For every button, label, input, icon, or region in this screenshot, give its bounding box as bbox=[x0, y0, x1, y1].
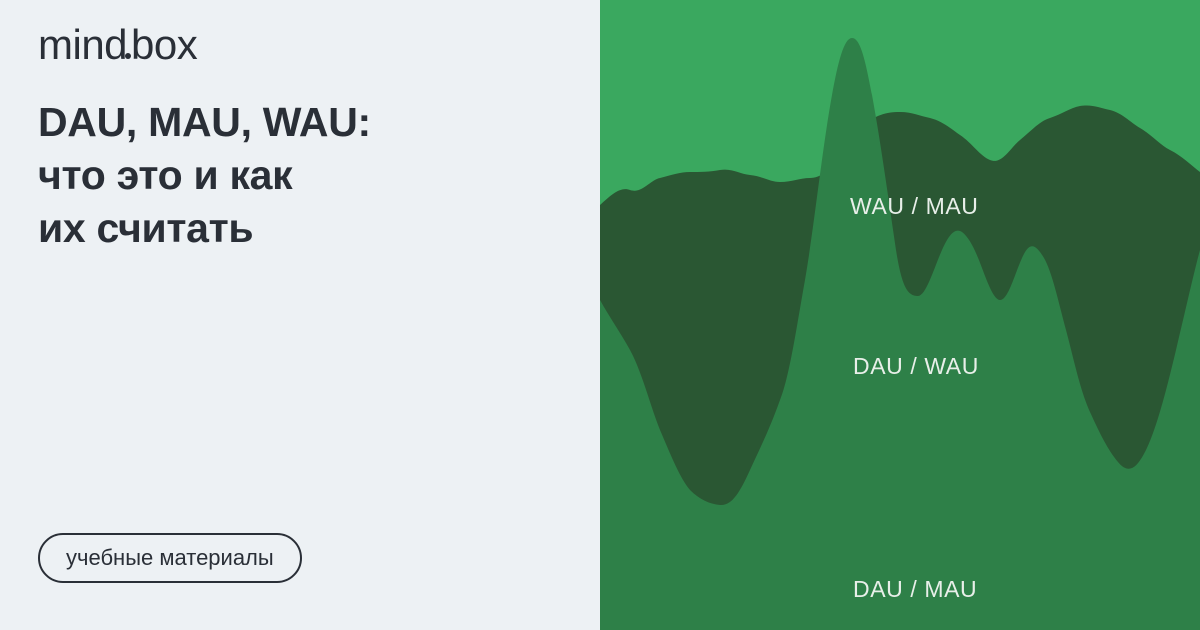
area-chart bbox=[600, 0, 1200, 630]
headline-line-2: что это и как bbox=[38, 149, 568, 202]
category-badge-label: учебные материалы bbox=[66, 547, 274, 569]
logo-text-box: box bbox=[131, 21, 197, 68]
headline-line-1: DAU, MAU, WAU: bbox=[38, 96, 568, 149]
headline-line-3: их считать bbox=[38, 202, 568, 255]
logo-text-mind: mind bbox=[38, 21, 127, 68]
page-title: DAU, MAU, WAU: что это и как их считать bbox=[38, 96, 568, 255]
mindbox-logo[interactable]: mindbox bbox=[38, 24, 197, 66]
category-badge[interactable]: учебные материалы bbox=[38, 533, 302, 583]
left-content-panel: mindbox DAU, MAU, WAU: что это и как их … bbox=[0, 0, 600, 630]
chart-label-dau-wau: DAU / WAU bbox=[853, 355, 979, 378]
banner-root: mindbox DAU, MAU, WAU: что это и как их … bbox=[0, 0, 1200, 630]
chart-panel: WAU / MAU DAU / WAU DAU / MAU bbox=[600, 0, 1200, 630]
chart-label-dau-mau: DAU / MAU bbox=[853, 578, 977, 601]
chart-label-wau-mau: WAU / MAU bbox=[850, 195, 979, 218]
